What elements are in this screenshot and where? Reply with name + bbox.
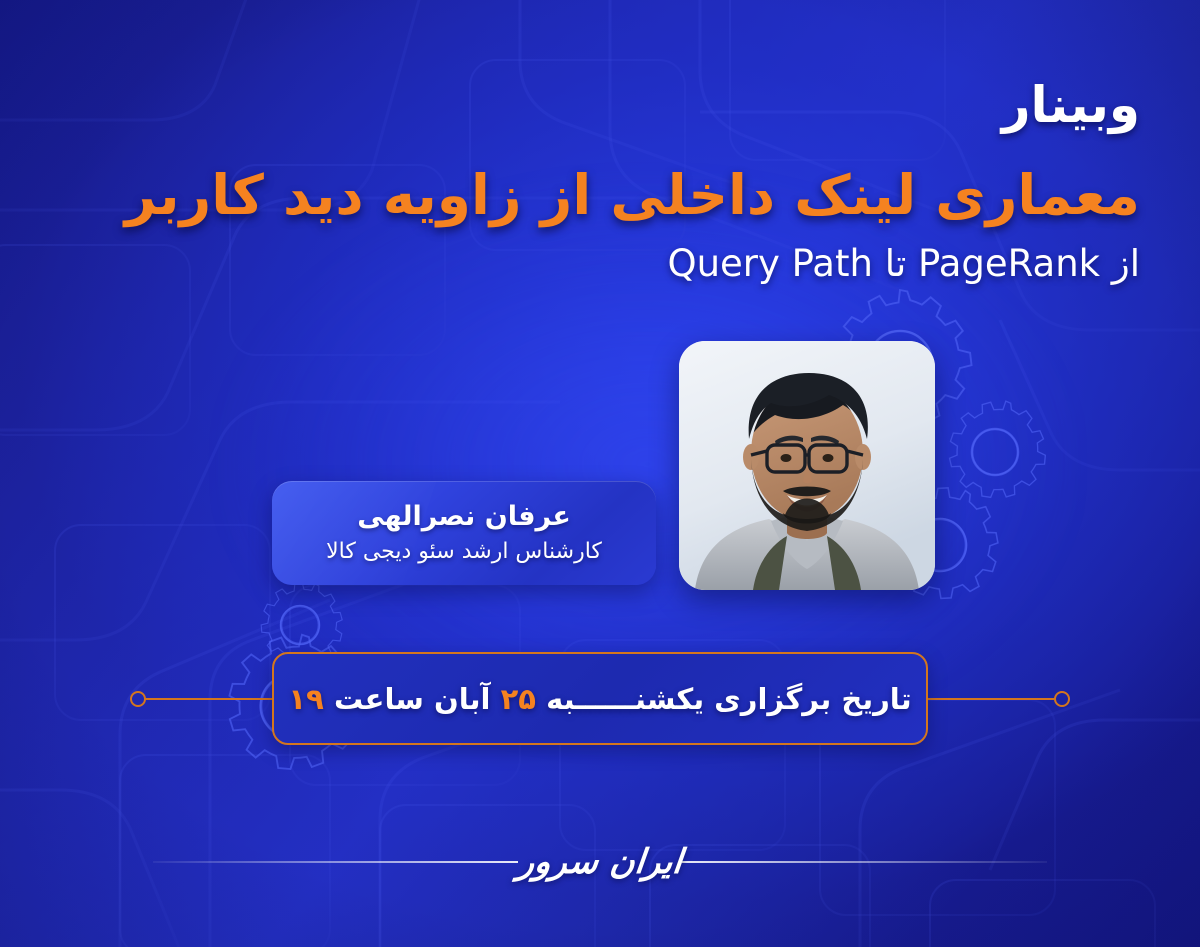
headline-block: وبینار معماری لینک داخلی از زاویه دید کا… bbox=[60, 78, 1140, 288]
event-date-box: تاریخ برگزاری یکشنــــــبه ۲۵ آبان ساعت … bbox=[272, 652, 928, 745]
footer-divider-left bbox=[153, 861, 518, 863]
rail-line-right bbox=[908, 698, 1056, 700]
speaker-name: عرفان نصرالهی bbox=[357, 501, 571, 533]
date-time-label: ساعت bbox=[334, 682, 424, 716]
rail-line-left bbox=[144, 698, 292, 700]
footer-brand-bar: ایران سرور bbox=[0, 832, 1200, 892]
page-title: معماری لینک داخلی از زاویه دید کاربر bbox=[60, 161, 1140, 230]
subtitle: از PageRank تا Query Path bbox=[60, 240, 1140, 288]
footer-divider-right bbox=[682, 861, 1047, 863]
date-month: آبان bbox=[434, 682, 490, 716]
speaker-role: کارشناس ارشد سئو دیجی کالا bbox=[326, 539, 602, 565]
date-day: ۲۵ bbox=[501, 682, 536, 716]
webinar-banner: وبینار معماری لینک داخلی از زاویه دید کا… bbox=[0, 0, 1200, 947]
date-time: ۱۹ bbox=[288, 682, 323, 716]
endpoint-dot-icon-right bbox=[1054, 691, 1070, 707]
speaker-info-card: عرفان نصرالهی کارشناس ارشد سئو دیجی کالا bbox=[272, 481, 656, 585]
speaker-photo bbox=[679, 341, 935, 590]
event-date-text: تاریخ برگزاری یکشنــــــبه ۲۵ آبان ساعت … bbox=[288, 682, 911, 716]
date-prefix: تاریخ برگزاری یکشنــــــبه bbox=[546, 682, 912, 716]
brand-logo: ایران سرور bbox=[516, 842, 684, 882]
kicker-label: وبینار bbox=[60, 78, 1140, 133]
